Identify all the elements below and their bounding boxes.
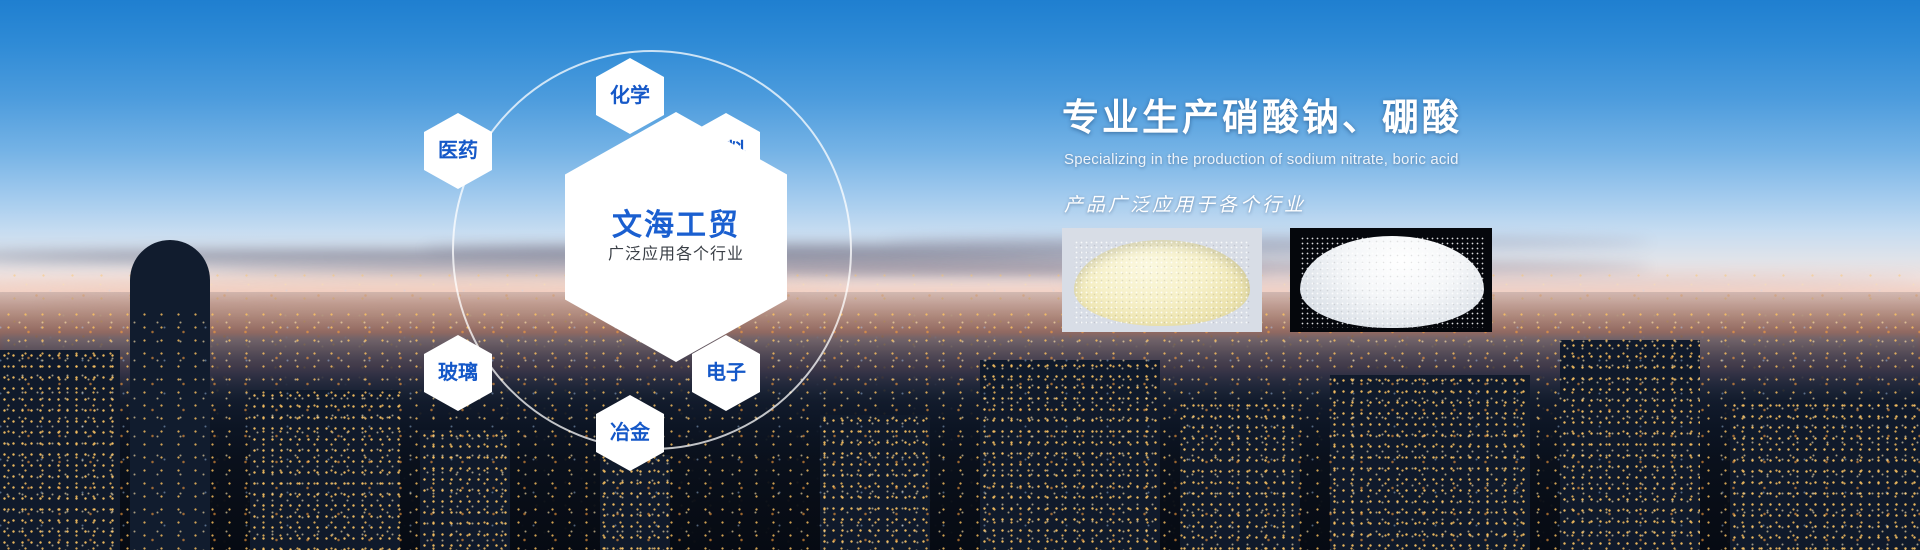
product-photo-sodium-nitrate bbox=[1062, 228, 1262, 332]
hex-node-label: 玻璃 bbox=[438, 363, 478, 383]
powder-texture bbox=[1074, 240, 1250, 326]
hex-node-label: 化学 bbox=[610, 86, 650, 106]
tagline: 产品广泛应用于各个行业 bbox=[1064, 190, 1702, 217]
powder-texture bbox=[1300, 236, 1484, 328]
hex-node-label: 电子 bbox=[706, 363, 746, 383]
industry-hex-diagram: 化学 釉料 电子 冶金 玻璃 医药 文海工贸 广泛应用各个行业 bbox=[430, 10, 970, 550]
banner-copy: 专业生产硝酸钠、硼酸 Specializing in the productio… bbox=[1062, 96, 1702, 217]
company-name: 文海工贸 bbox=[612, 211, 740, 241]
powder-pile bbox=[1300, 236, 1484, 328]
company-tagline: 广泛应用各个行业 bbox=[608, 247, 744, 263]
subheadline-english: Specializing in the production of sodium… bbox=[1064, 151, 1702, 168]
powder-pile bbox=[1074, 240, 1250, 326]
headline: 专业生产硝酸钠、硼酸 bbox=[1062, 96, 1702, 140]
hex-node-label: 医药 bbox=[438, 141, 478, 161]
cloud-streak bbox=[883, 238, 1651, 247]
hex-node-label: 冶金 bbox=[610, 423, 650, 443]
hero-banner: 化学 釉料 电子 冶金 玻璃 医药 文海工贸 广泛应用各个行业 专业生产硝酸钠、… bbox=[0, 0, 1920, 550]
product-photo-boric-acid bbox=[1290, 228, 1492, 332]
